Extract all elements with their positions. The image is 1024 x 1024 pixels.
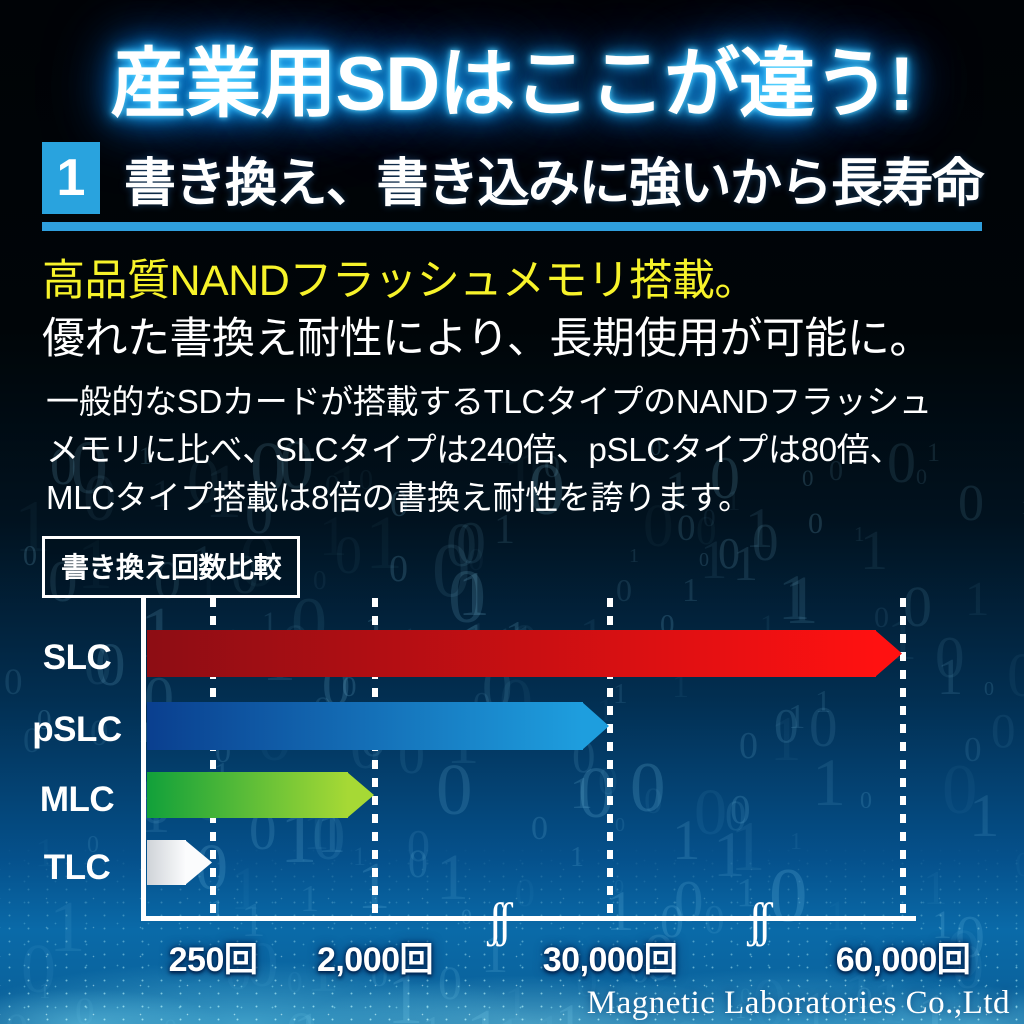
page-title: 産業用SDはここが違う! [0,22,1024,132]
infographic-page: 1010010101001010001001100100011000000001… [0,0,1024,1024]
detail-line: 一般的なSDカードが搭載するTLCタイプのNANDフラッシュ [46,378,1006,426]
chart-tick-label: 30,000回 [543,932,678,981]
lead-white-line: 優れた書換え耐性により、長期使用が可能に。 [42,310,1002,368]
bar-arrow-head [347,772,374,818]
section-heading-row: 1 書き換え、書き込みに強いから長寿命 [42,140,1004,216]
chart-tick-label: 2,000回 [317,932,433,981]
lead-paragraph: 高品質NANDフラッシュメモリ搭載。 優れた書換え耐性により、長期使用が可能に。 [42,252,1002,369]
bar-arrow-head [875,630,902,677]
bar-arrow-head [582,702,609,750]
section-heading-text: 書き換え、書き込みに強いから長寿命 [124,141,983,216]
chart-title: 書き換え回数比較 [42,536,300,598]
section-number-badge: 1 [42,142,100,214]
heading-divider [42,222,982,231]
chart-bar-tlc [147,840,186,885]
chart-tick-label: 60,000回 [836,932,971,981]
chart-bar-pslc [147,702,583,750]
bar-arrow-head [185,840,212,885]
write-cycles-bar-chart: 書き換え回数比較 ʃʃʃʃSLCpSLCMLCTLC250回2,000回30,0… [0,500,1024,1000]
chart-category-label-slc: SLC [18,638,136,678]
chart-category-label-pslc: pSLC [18,710,136,750]
chart-category-label-tlc: TLC [18,848,136,888]
chart-tick-label: 250回 [169,932,258,981]
chart-category-label-mlc: MLC [18,780,136,820]
chart-x-axis [141,916,916,921]
bar-body [147,702,583,750]
lead-highlight-line: 高品質NANDフラッシュメモリ搭載。 [42,252,1002,310]
company-footer: Magnetic Laboratories Co.,Ltd [587,985,1010,1022]
chart-bar-slc [147,630,876,677]
detail-line: メモリに比べ、SLCタイプは240倍、pSLCタイプは80倍、 [46,426,1006,474]
bar-body [147,630,876,677]
bar-body [147,772,348,818]
chart-gridline [900,598,906,920]
chart-y-axis [141,598,146,920]
bar-body [147,840,186,885]
chart-bar-mlc [147,772,348,818]
